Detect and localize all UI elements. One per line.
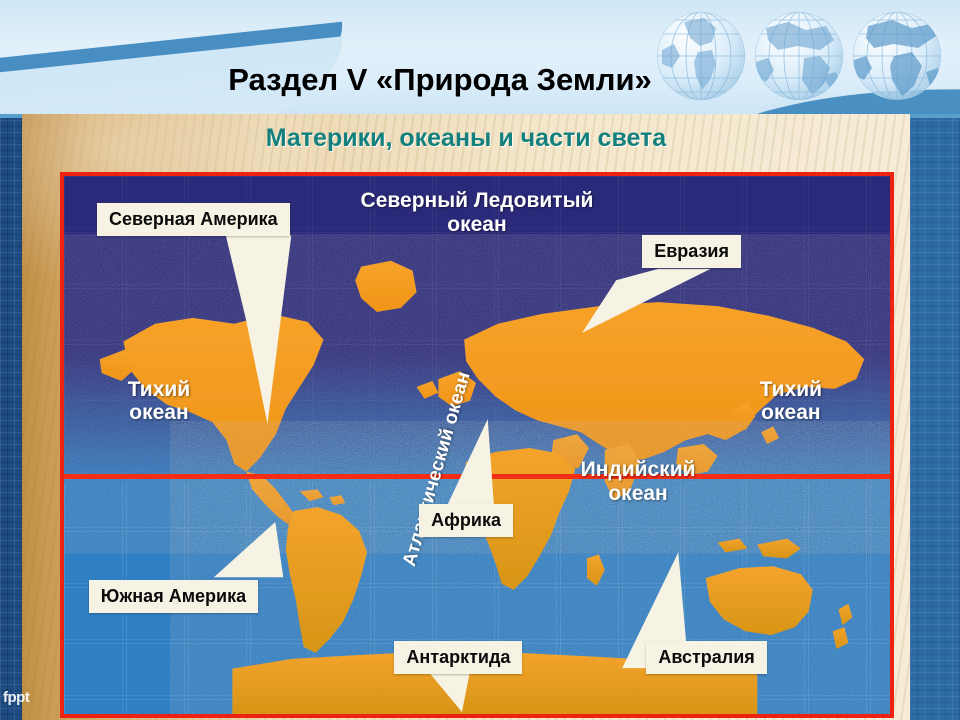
- map-card: Материки, океаны и части света: [22, 114, 910, 720]
- callout-eurasia[interactable]: Евразия: [642, 235, 741, 268]
- map-heading: Материки, океаны и части света: [22, 124, 910, 153]
- callout-antarctica[interactable]: Антарктида: [394, 641, 522, 674]
- callout-south-america[interactable]: Южная Америка: [89, 580, 258, 613]
- callout-tail-north-america: [97, 203, 394, 472]
- slide-root: Раздел V «Природа Земли» Материки, океан…: [0, 0, 960, 720]
- callout-africa[interactable]: Африка: [419, 504, 513, 537]
- slide-header: Раздел V «Природа Земли»: [0, 0, 960, 118]
- callout-australia[interactable]: Австралия: [646, 641, 766, 674]
- page-title: Раздел V «Природа Земли»: [0, 64, 960, 95]
- map-canvas: Северный Ледовитый океан Тихий океан Атл…: [64, 176, 890, 714]
- world-map: Северный Ледовитый океан Тихий океан Атл…: [60, 172, 894, 718]
- fppt-watermark: fppt: [3, 689, 29, 706]
- callout-north-america[interactable]: Северная Америка: [97, 203, 290, 236]
